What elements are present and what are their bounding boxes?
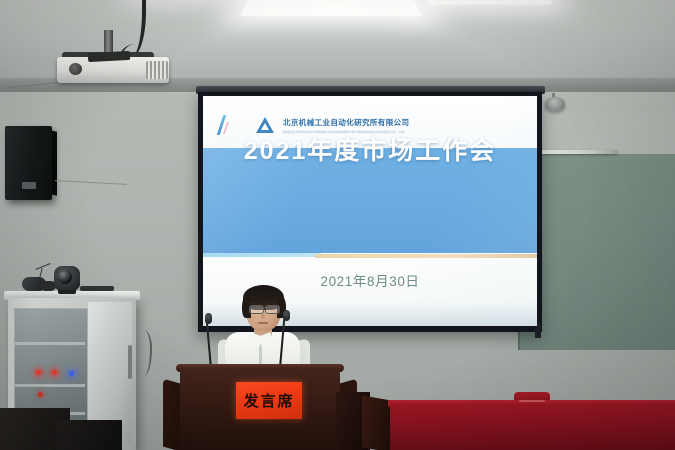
ceiling-sensor-icon bbox=[545, 97, 565, 111]
status-led-red bbox=[38, 392, 43, 397]
cabinet-shelf bbox=[15, 384, 85, 387]
ceiling-light-panel-right bbox=[427, 0, 552, 5]
speaker-eyebrow-left bbox=[249, 302, 261, 304]
ceiling-light-panel-center bbox=[240, 0, 422, 16]
eyeglasses-bridge bbox=[262, 307, 265, 308]
projector-vent bbox=[146, 61, 168, 79]
table-riser-slot bbox=[519, 400, 545, 402]
slide-accent-cyan bbox=[203, 253, 321, 257]
projector-lens-icon bbox=[69, 63, 82, 75]
cabinet-top-strip bbox=[80, 286, 114, 291]
microphone-icon bbox=[205, 313, 212, 324]
microphone-icon bbox=[283, 310, 290, 321]
eyeglasses-lens-right bbox=[265, 305, 280, 314]
camera-lens-icon bbox=[58, 270, 72, 284]
podium-sign-label: 发言席 bbox=[243, 390, 294, 411]
status-led-red bbox=[36, 370, 41, 375]
status-led-red bbox=[52, 370, 57, 375]
conference-room-scene: 北京机械工业自动化研究所有限公司 Beijing Research Instit… bbox=[0, 0, 675, 450]
speaker-nose bbox=[261, 312, 265, 319]
cabinet-handle[interactable] bbox=[128, 345, 132, 379]
status-led-blue bbox=[69, 371, 74, 376]
podium-sign: 发言席 bbox=[236, 382, 302, 419]
slide-title: 2021年度市场工作会 bbox=[203, 96, 537, 201]
red-conference-table bbox=[390, 404, 675, 450]
dark-chair bbox=[56, 420, 122, 450]
speaker-eyebrow-right bbox=[265, 302, 277, 304]
cabinet-shelf bbox=[15, 342, 85, 345]
speaker-mouth bbox=[258, 322, 268, 324]
speaker-logo-icon bbox=[22, 182, 36, 189]
